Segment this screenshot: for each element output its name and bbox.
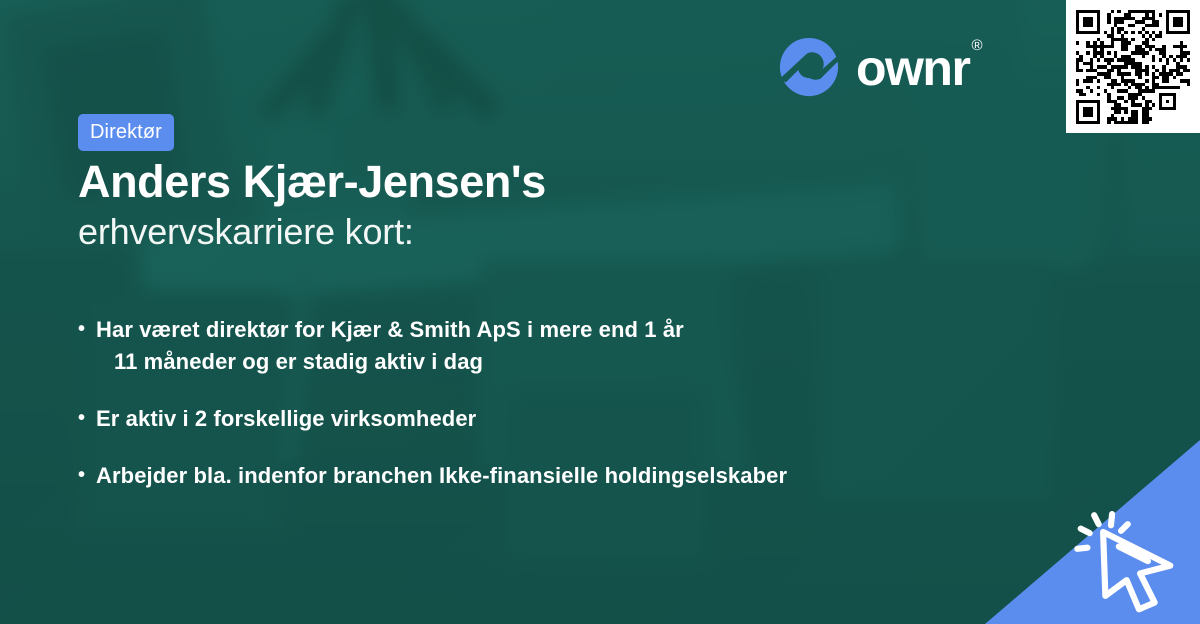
- qr-code-image[interactable]: [1076, 10, 1190, 124]
- registered-trademark-icon: ®: [971, 38, 982, 53]
- role-badge: Direktør: [78, 114, 174, 151]
- list-item-line-1: Arbejder bla. indenfor branchen Ikke-fin…: [96, 463, 787, 488]
- click-cursor-icon: [1074, 504, 1186, 616]
- bullet-icon: •: [78, 315, 96, 344]
- ownr-logomark-icon: [778, 36, 840, 98]
- ownr-wordmark: ownr: [856, 43, 969, 93]
- business-career-card: Direktør Anders Kjær-Jensen's erhvervska…: [0, 0, 1200, 624]
- list-item-text: Arbejder bla. indenfor branchen Ikke-fin…: [96, 460, 1038, 492]
- ownr-logo: ownr ®: [778, 36, 981, 98]
- fact-list: • Har været direktør for Kjær & Smith Ap…: [78, 314, 1038, 517]
- bullet-icon: •: [78, 404, 96, 433]
- corner-accent: [0, 0, 1200, 624]
- page-title: Anders Kjær-Jensen's: [78, 158, 546, 207]
- list-item-line-1: Er aktiv i 2 forskellige virksomheder: [96, 406, 476, 431]
- list-item: • Er aktiv i 2 forskellige virksomheder: [78, 403, 1038, 435]
- list-item: • Arbejder bla. indenfor branchen Ikke-f…: [78, 460, 1038, 492]
- page-subtitle: erhvervskarriere kort:: [78, 212, 414, 252]
- list-item-text: Er aktiv i 2 forskellige virksomheder: [96, 403, 1038, 435]
- list-item-line-2: 11 måneder og er stadig aktiv i dag: [96, 346, 1038, 378]
- list-item: • Har været direktør for Kjær & Smith Ap…: [78, 314, 1038, 378]
- list-item-text: Har været direktør for Kjær & Smith ApS …: [96, 314, 1038, 378]
- bullet-icon: •: [78, 461, 96, 490]
- qr-code-panel[interactable]: [1066, 0, 1200, 133]
- list-item-line-1: Har været direktør for Kjær & Smith ApS …: [96, 317, 684, 342]
